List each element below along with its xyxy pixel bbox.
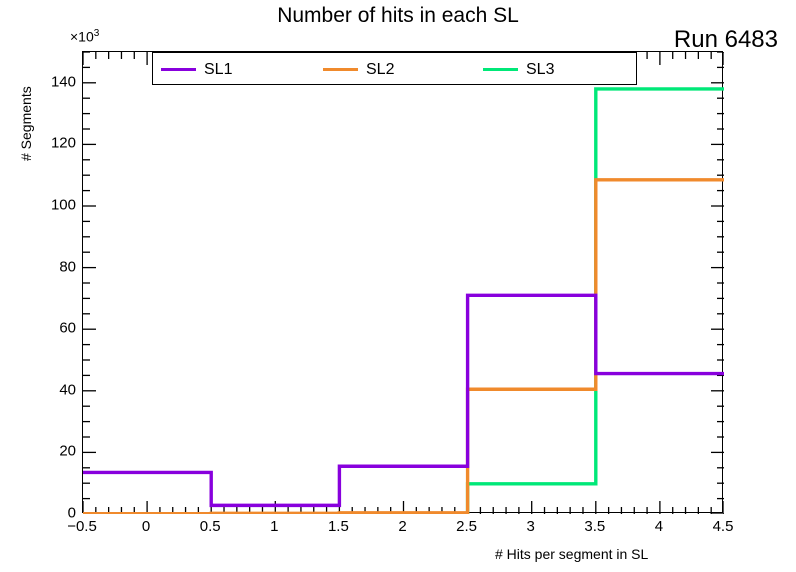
legend-label: SL1	[204, 61, 232, 79]
run-annotation: Run 6483	[674, 26, 778, 54]
y-tick-label: 100	[51, 197, 76, 214]
y-tick-label: 120	[51, 135, 76, 152]
x-tick-label: 3	[527, 518, 535, 535]
plot-frame	[82, 51, 723, 513]
chart-title: Number of hits in each SL	[0, 4, 796, 28]
series-line-sl1	[83, 295, 724, 505]
legend-swatch-sl2	[323, 68, 358, 71]
y-tick-label: 40	[59, 381, 76, 398]
x-tick-label: 2.5	[456, 518, 477, 535]
series-line-sl3	[83, 89, 724, 514]
x-tick-label: 1	[270, 518, 278, 535]
y-axis-exponent-label: ×103	[70, 28, 99, 45]
legend-item-sl1[interactable]: SL1	[161, 53, 232, 86]
chart-canvas: Number of hits in each SL Run 6483 ×103 …	[0, 0, 796, 572]
y-axis-label: # Segments	[18, 86, 34, 161]
x-tick-label: 2	[398, 518, 406, 535]
series-line-sl2	[83, 180, 724, 514]
x-axis-label: # Hits per segment in SL	[495, 546, 648, 562]
legend-swatch-sl3	[483, 68, 518, 71]
y-tick-label: 20	[59, 443, 76, 460]
y-tick-label: 80	[59, 258, 76, 275]
legend-swatch-sl1	[161, 68, 196, 71]
histogram-plot	[83, 52, 724, 514]
x-tick-label: 4	[655, 518, 663, 535]
legend-item-sl3[interactable]: SL3	[483, 53, 554, 86]
x-tick-label: 0	[142, 518, 150, 535]
legend[interactable]: SL1SL2SL3	[152, 52, 637, 85]
x-tick-label: −0.5	[67, 518, 97, 535]
y-tick-label: 140	[51, 73, 76, 90]
legend-item-sl2[interactable]: SL2	[323, 53, 394, 86]
legend-label: SL3	[526, 61, 554, 79]
y-tick-label: 60	[59, 320, 76, 337]
legend-label: SL2	[366, 61, 394, 79]
x-tick-label: 1.5	[328, 518, 349, 535]
x-tick-label: 4.5	[713, 518, 734, 535]
x-tick-label: 0.5	[200, 518, 221, 535]
x-tick-label: 3.5	[584, 518, 605, 535]
